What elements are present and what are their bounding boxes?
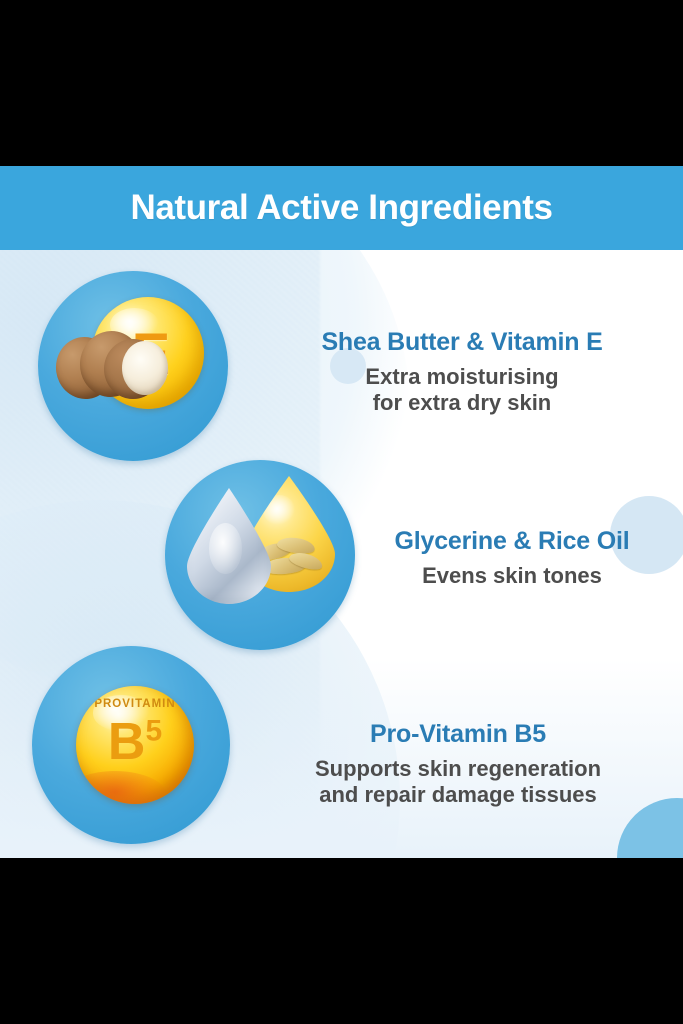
screenshot-frame: Natural Active Ingredients E Shea Butter… [0,0,683,1024]
vitamin-e-capsule-with-shea-nuts-icon: E [38,271,228,461]
ingredient-title: Shea Butter & Vitamin E [252,328,672,357]
provitamin-b5-sphere-icon: PROVITAMIN B5 [32,646,230,844]
b5-superscript: 5 [145,715,162,748]
letterbox-bottom-bar [0,858,683,1024]
b5-label: B5 [76,716,194,768]
b5-letter: B [108,713,146,771]
ingredient-title: Glycerine & Rice Oil [352,527,672,556]
shea-nut-cut-face-icon [122,341,168,395]
water-and-oil-droplets-with-rice-icon [165,460,355,650]
ingredient-description: Extra moisturising for extra dry skin [252,364,672,416]
ingredient-list: E Shea Butter & Vitamin E Extra moisturi… [0,250,683,858]
page-title: Natural Active Ingredients [130,188,552,228]
ingredients-poster: Natural Active Ingredients E Shea Butter… [0,166,683,858]
header-band: Natural Active Ingredients [0,166,683,250]
water-droplet-highlight [209,523,243,574]
ingredient-title: Pro-Vitamin B5 [248,720,668,749]
ingredient-description: Evens skin tones [352,563,672,589]
oil-droplet-highlight [263,495,294,525]
ingredient-text-shea-butter-vitamin-e: Shea Butter & Vitamin E Extra moisturisi… [252,328,672,416]
ingredient-text-glycerine-rice-oil: Glycerine & Rice Oil Evens skin tones [352,527,672,589]
letterbox-top-bar [0,0,683,166]
ingredient-description: Supports skin regeneration and repair da… [248,756,668,808]
ingredient-text-pro-vitamin-b5: Pro-Vitamin B5 Supports skin regeneratio… [248,720,668,808]
b5-golden-sphere: PROVITAMIN B5 [76,686,194,804]
provitamin-arc-label: PROVITAMIN [76,698,194,711]
